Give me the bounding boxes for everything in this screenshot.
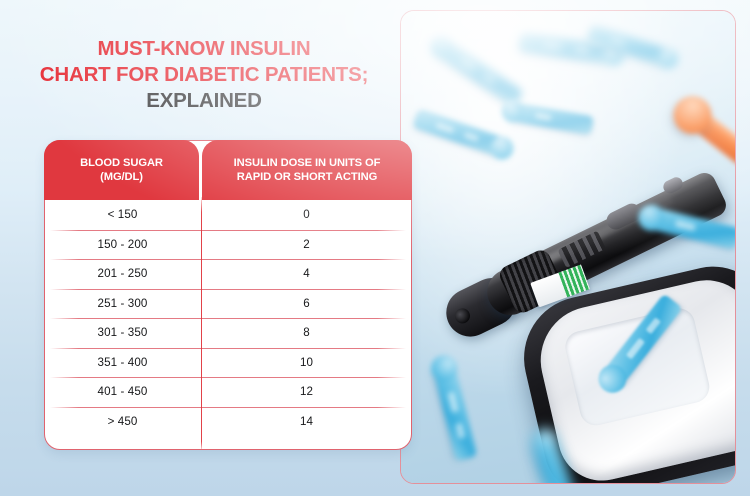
- table-column-divider: [201, 197, 202, 449]
- cell-blood-sugar: 201 - 250: [44, 267, 201, 280]
- cell-blood-sugar: > 450: [44, 415, 201, 428]
- cell-blood-sugar: < 150: [44, 208, 201, 221]
- cell-insulin-dose: 10: [201, 356, 412, 369]
- title-line-1: MUST-KNOW INSULIN: [24, 36, 384, 62]
- table-row: < 1500: [44, 200, 412, 230]
- cell-blood-sugar: 301 - 350: [44, 326, 201, 339]
- table-row: 150 - 2002: [44, 230, 412, 260]
- cell-blood-sugar: 401 - 450: [44, 385, 201, 398]
- cell-insulin-dose: 14: [201, 415, 412, 428]
- cell-insulin-dose: 12: [201, 385, 412, 398]
- insulin-dose-table: BLOOD SUGAR (MG/DL) INSULIN DOSE IN UNIT…: [44, 140, 412, 450]
- cell-blood-sugar: 150 - 200: [44, 238, 201, 251]
- table-header-blood-sugar: BLOOD SUGAR (MG/DL): [44, 140, 199, 200]
- table-row: 301 - 3508: [44, 318, 412, 348]
- cell-insulin-dose: 2: [201, 238, 412, 251]
- cell-blood-sugar: 251 - 300: [44, 297, 201, 310]
- cell-insulin-dose: 4: [201, 267, 412, 280]
- cell-insulin-dose: 8: [201, 326, 412, 339]
- header-insulin-line1: INSULIN DOSE IN UNITS OF: [234, 156, 381, 171]
- poster-canvas: MUST-KNOW INSULIN CHART FOR DIABETIC PAT…: [0, 0, 750, 496]
- table-header-row: BLOOD SUGAR (MG/DL) INSULIN DOSE IN UNIT…: [44, 140, 412, 200]
- title-line-3: EXPLAINED: [24, 88, 384, 114]
- table-row: 251 - 3006: [44, 289, 412, 319]
- table-row: 401 - 45012: [44, 377, 412, 407]
- header-insulin-line2: RAPID OR SHORT ACTING: [234, 170, 381, 185]
- cell-insulin-dose: 6: [201, 297, 412, 310]
- table-header-insulin-dose: INSULIN DOSE IN UNITS OF RAPID OR SHORT …: [202, 140, 412, 200]
- page-title: MUST-KNOW INSULIN CHART FOR DIABETIC PAT…: [24, 36, 384, 114]
- title-line-2: CHART FOR DIABETIC PATIENTS;: [24, 62, 384, 88]
- table-row: 201 - 2504: [44, 259, 412, 289]
- cell-blood-sugar: 351 - 400: [44, 356, 201, 369]
- header-blood-sugar-line1: BLOOD SUGAR: [80, 156, 163, 171]
- photo-panel: [400, 10, 736, 484]
- table-row: 351 - 40010: [44, 348, 412, 378]
- table-body: < 1500150 - 2002201 - 2504251 - 3006301 …: [44, 200, 412, 450]
- table-row: > 45014: [44, 407, 412, 437]
- header-blood-sugar-line2: (MG/DL): [80, 170, 163, 185]
- cell-insulin-dose: 0: [201, 208, 412, 221]
